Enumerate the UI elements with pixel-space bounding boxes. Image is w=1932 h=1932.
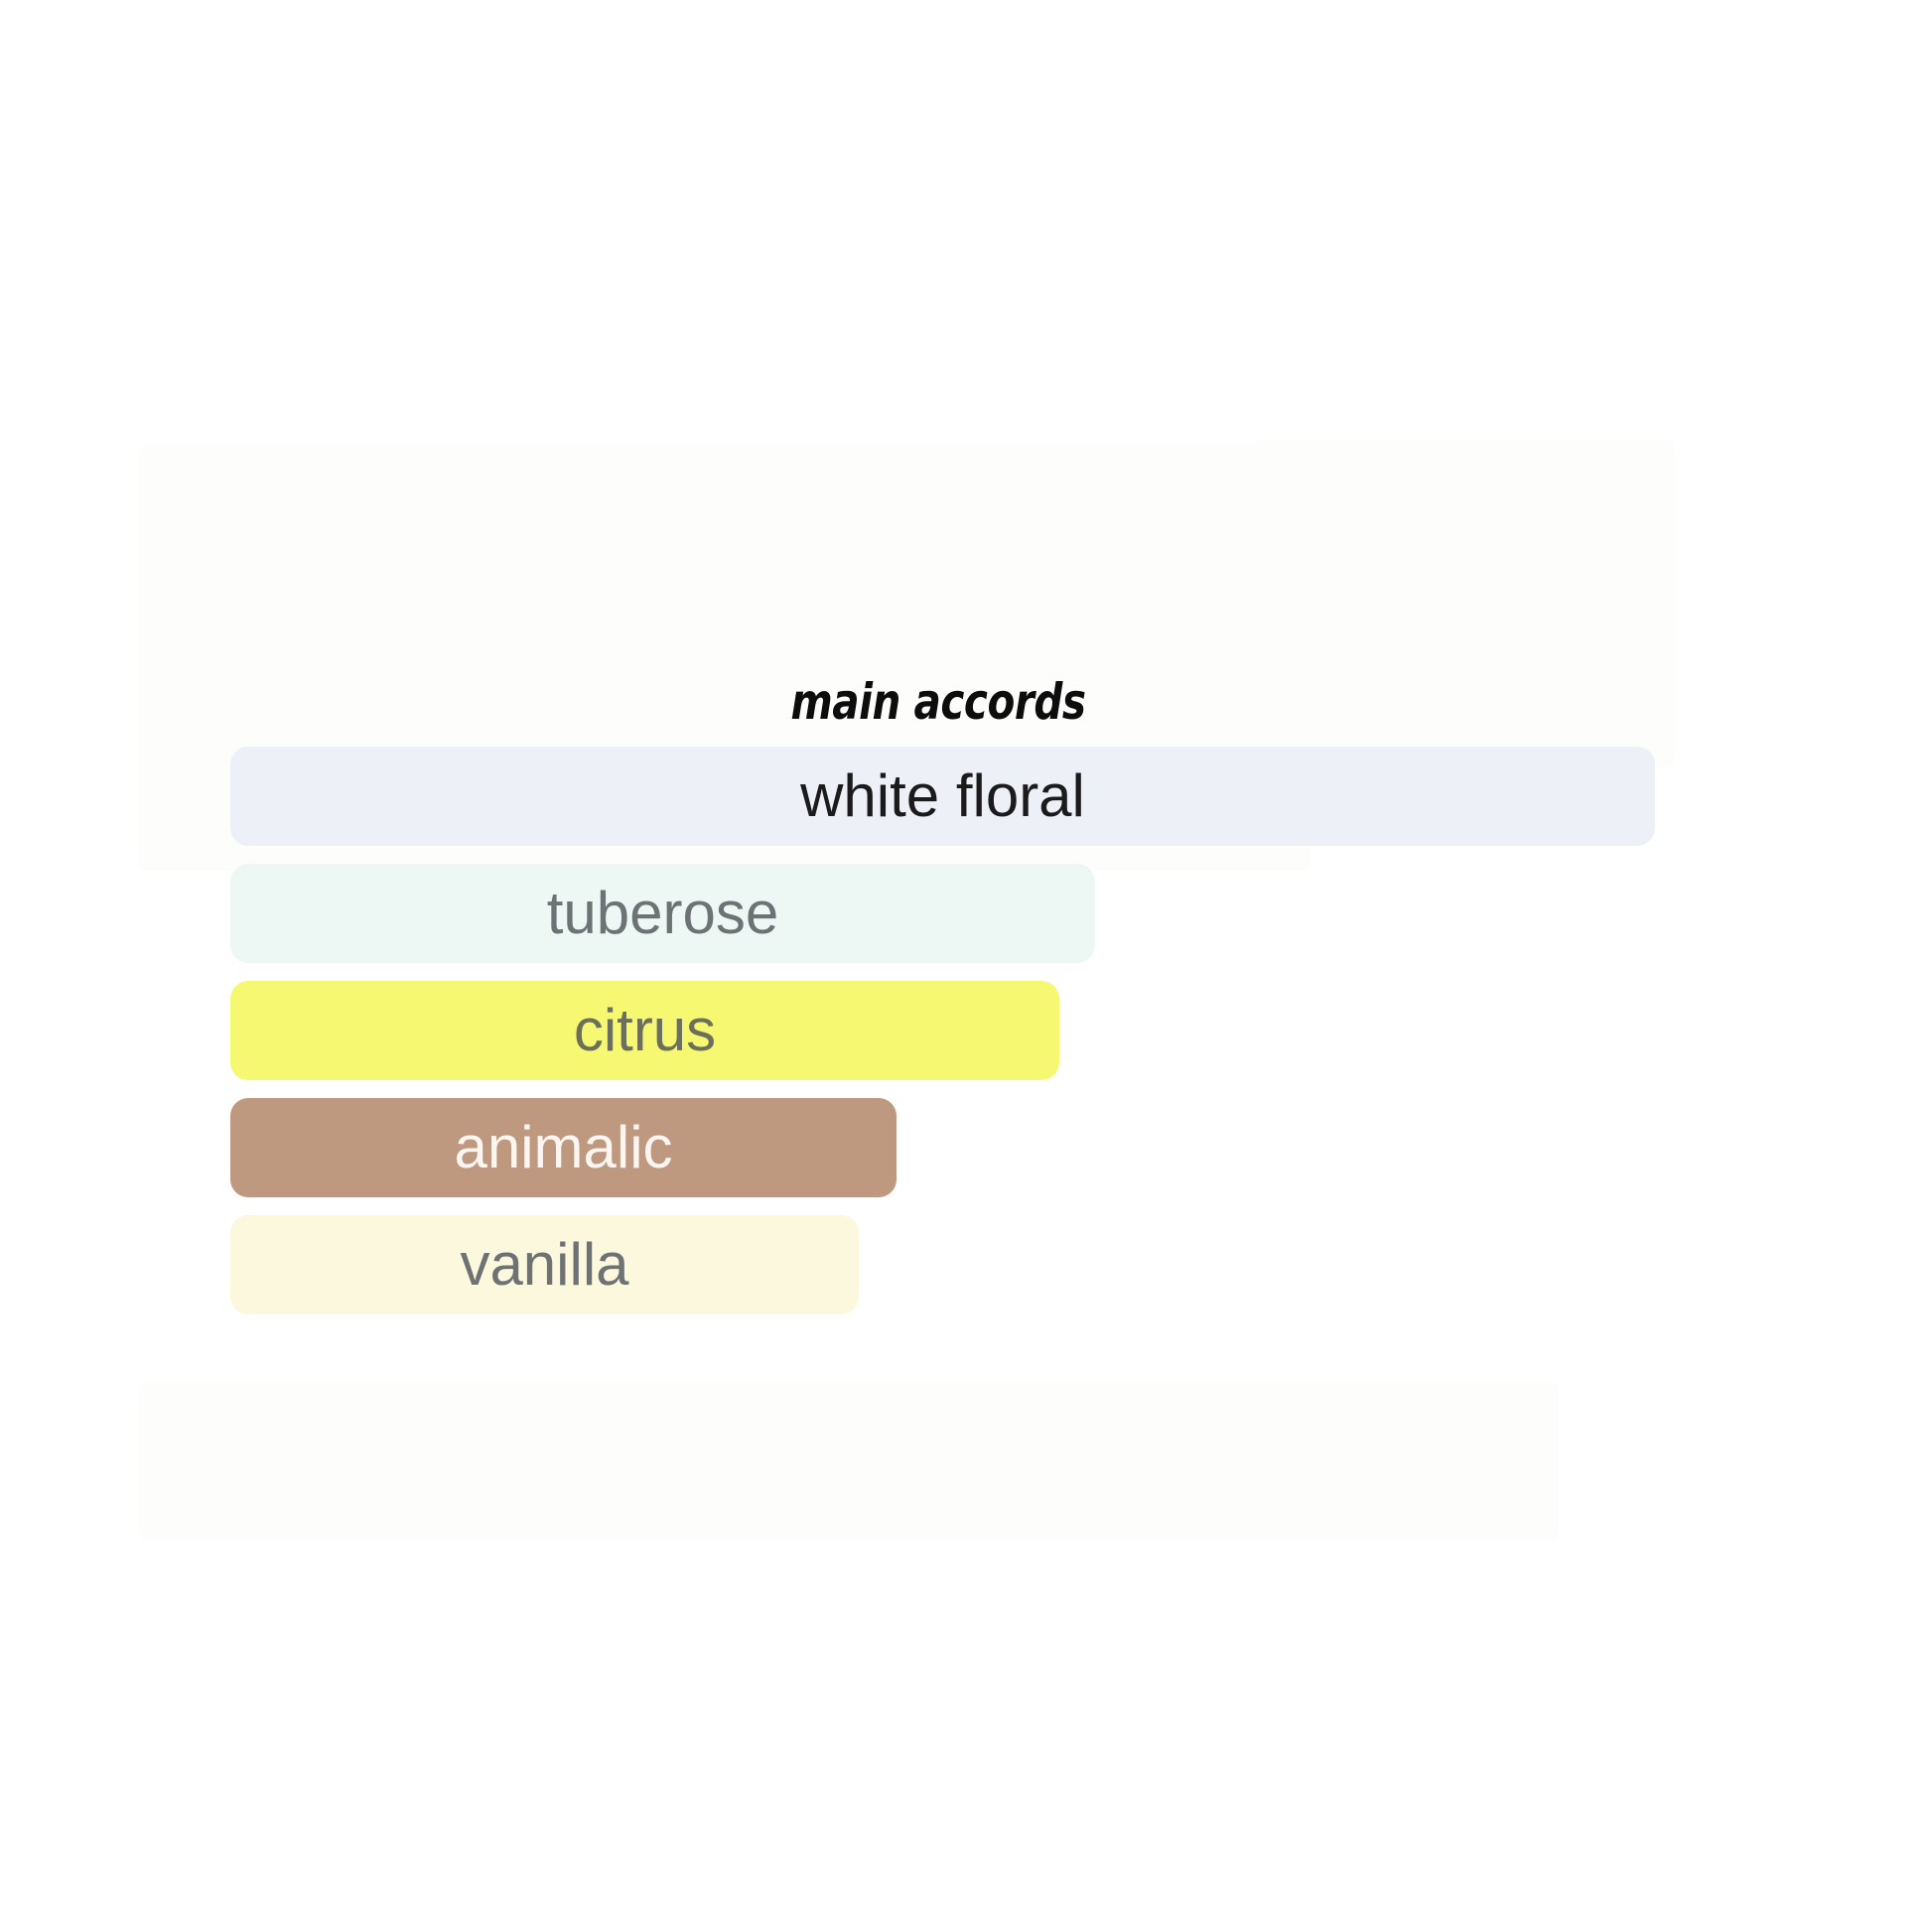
accords-bar-list: white floraltuberosecitrusanimalicvanill… — [230, 747, 1720, 1314]
accord-bar-label: animalic — [230, 1118, 897, 1177]
accord-bar[interactable]: animalic — [230, 1098, 897, 1197]
accord-bar-label: tuberose — [230, 884, 1095, 943]
accord-bar[interactable]: citrus — [230, 981, 1059, 1080]
accord-bar[interactable]: white floral — [230, 747, 1655, 846]
accord-bar[interactable]: tuberose — [230, 864, 1095, 963]
screenshot-canvas: main accords white floraltuberosecitrusa… — [0, 0, 1932, 1932]
accord-bar-label: citrus — [230, 1001, 1059, 1060]
accord-bar-label: vanilla — [230, 1235, 859, 1295]
page-title: main accords — [94, 677, 1783, 727]
accord-bar[interactable]: vanilla — [230, 1215, 859, 1314]
background-panel-footer — [139, 1382, 1559, 1541]
accord-bar-label: white floral — [230, 766, 1655, 826]
